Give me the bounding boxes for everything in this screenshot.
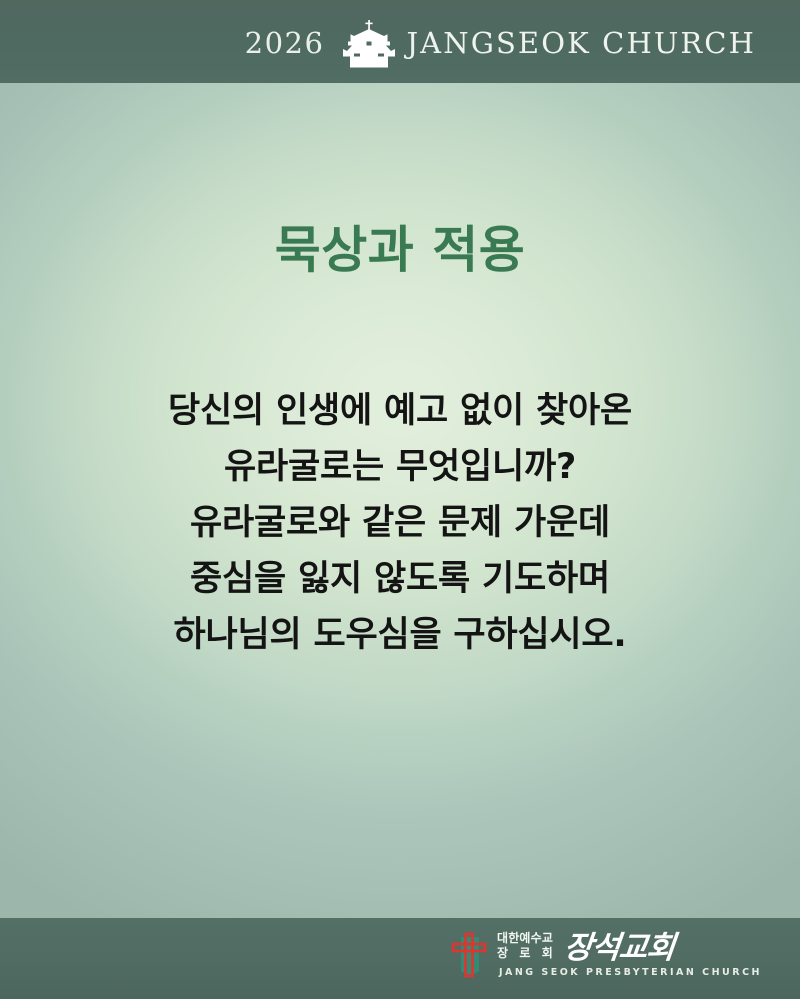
church-logo: 대한예수교 장 로 회 장석교회 JANG SEOK PRESBYTERIAN … (448, 922, 762, 988)
church-building-cross-icon (340, 20, 398, 68)
slide-content: 묵상과 적용 당신의 인생에 예고 없이 찾아온 유라굴로는 무엇입니까? 유라… (0, 83, 800, 918)
body-line: 하나님의 도우심을 구하십시오. (0, 607, 800, 663)
church-name-korean: 장석교회 (563, 932, 676, 964)
denomination-line-1: 대한예수교 (497, 931, 556, 946)
denomination-line-2: 장 로 회 (497, 946, 556, 961)
body-text-block: 당신의 인생에 예고 없이 찾아온 유라굴로는 무엇입니까? 유라굴로와 같은 … (0, 383, 800, 663)
body-line: 유라굴로와 같은 문제 가운데 (0, 495, 800, 551)
presentation-slide: 2026 JANGSEOK CHURCH 묵상 (0, 0, 800, 999)
header-year: 2026 (245, 29, 325, 58)
body-line: 당신의 인생에 예고 없이 찾아온 (0, 383, 800, 439)
page-title: 묵상과 적용 (0, 223, 800, 278)
logo-text-group: 대한예수교 장 로 회 장석교회 JANG SEOK PRESBYTERIAN … (497, 931, 762, 980)
body-line: 중심을 잃지 않도록 기도하며 (0, 551, 800, 607)
church-name-english: JANG SEOK PRESBYTERIAN CHURCH (497, 966, 762, 980)
header-content: 2026 JANGSEOK CHURCH (245, 20, 756, 68)
logo-top-row: 대한예수교 장 로 회 장석교회 (497, 931, 762, 964)
header-band: 2026 JANGSEOK CHURCH (0, 0, 800, 83)
body-line: 유라굴로는 무엇입니까? (0, 439, 800, 495)
denomination-block: 대한예수교 장 로 회 (497, 931, 556, 964)
header-church-name: JANGSEOK CHURCH (406, 29, 756, 58)
cross-emblem-icon (448, 931, 490, 979)
